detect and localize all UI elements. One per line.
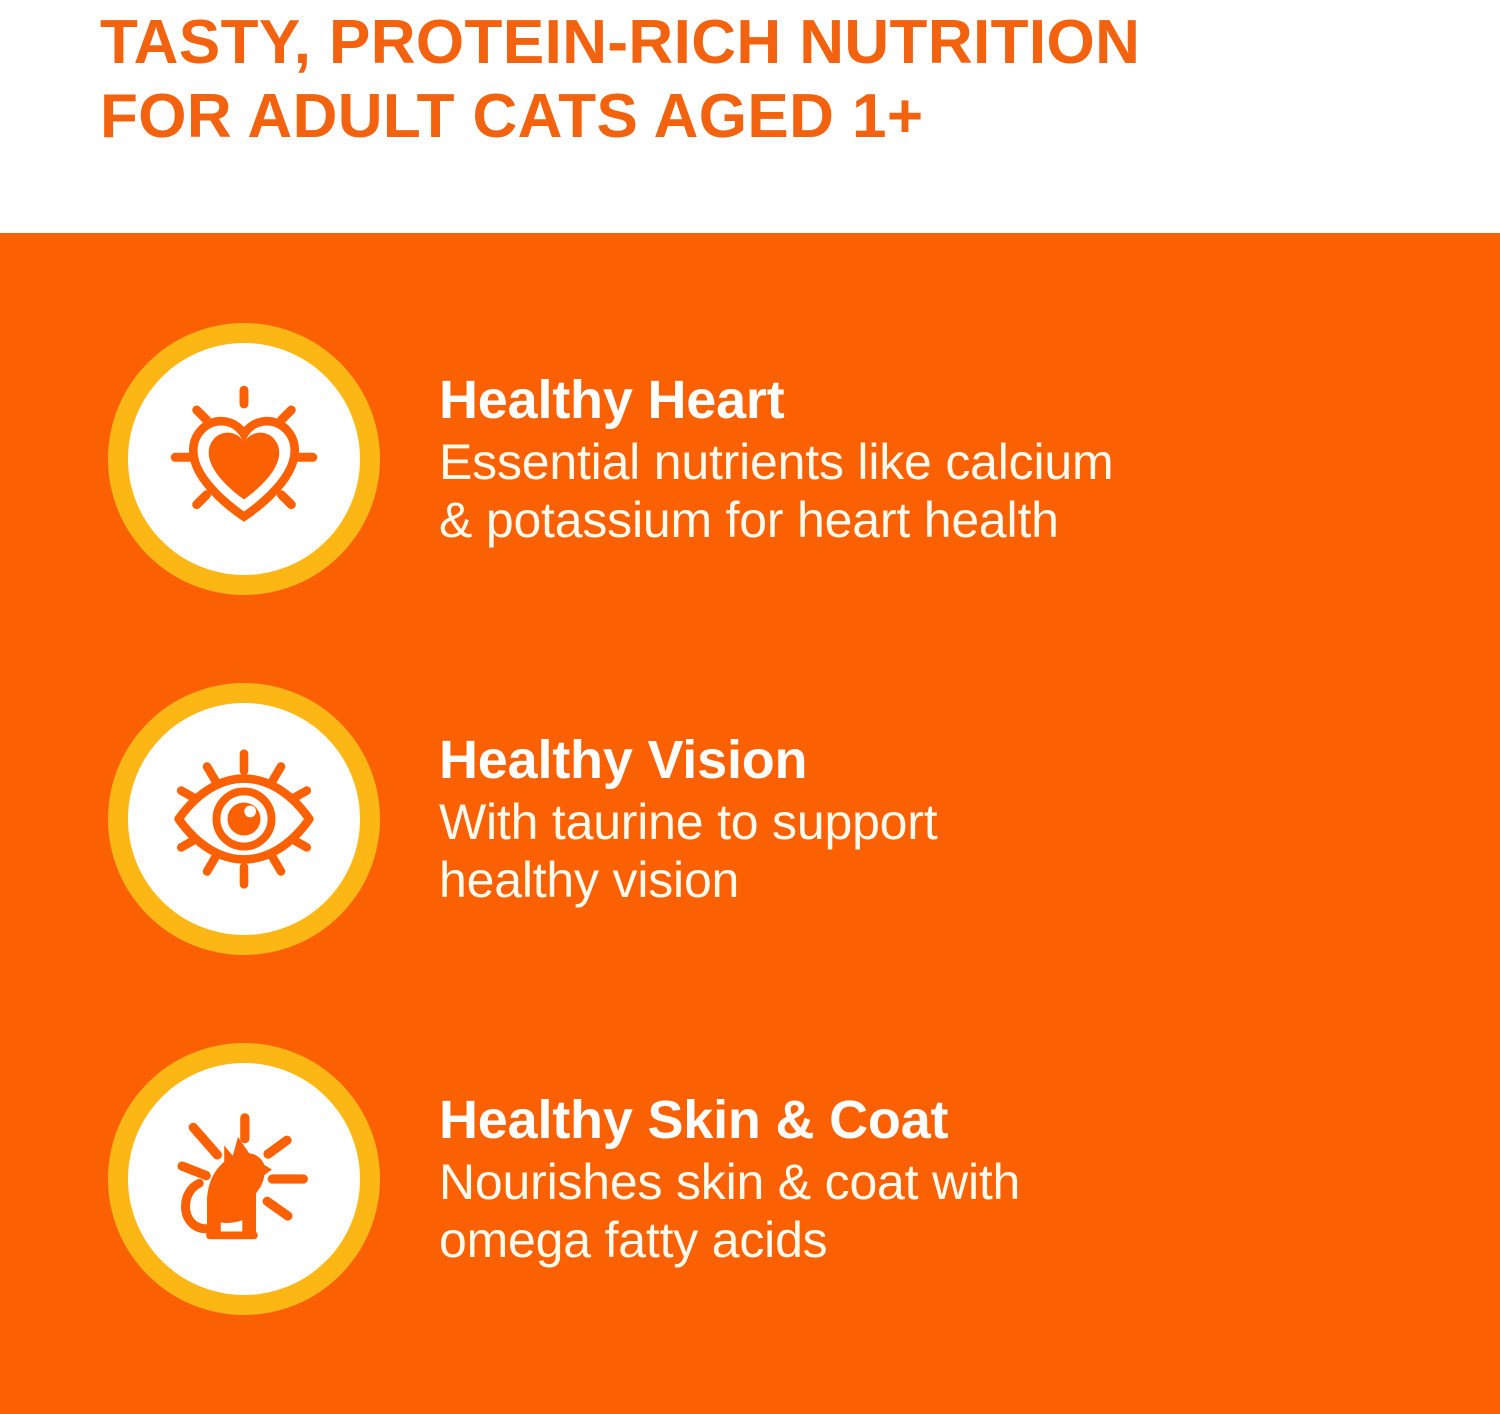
benefit-title: Healthy Skin & Coat — [439, 1089, 1340, 1151]
page-title: TASTY, PROTEIN-RICH NUTRITION FOR ADULT … — [100, 6, 1440, 154]
badge-inner-circle — [128, 703, 360, 935]
badge-inner-circle — [128, 1063, 360, 1295]
benefit-badge-cat — [108, 1043, 380, 1315]
benefit-title: Healthy Heart — [439, 369, 1340, 431]
header-banner: TASTY, PROTEIN-RICH NUTRITION FOR ADULT … — [0, 0, 1500, 233]
benefit-badge-heart — [108, 323, 380, 595]
benefit-description: With taurine to support healthy vision — [439, 793, 1340, 909]
benefit-row: Healthy Vision With taurine to support h… — [0, 683, 1500, 955]
infographic-page: TASTY, PROTEIN-RICH NUTRITION FOR ADULT … — [0, 0, 1500, 1414]
benefit-badge-eye — [108, 683, 380, 955]
benefit-text-block: Healthy Heart Essential nutrients like c… — [439, 369, 1500, 549]
benefit-row: Healthy Heart Essential nutrients like c… — [0, 323, 1500, 595]
radiant-eye-icon — [158, 733, 330, 905]
radiant-cat-icon — [158, 1093, 330, 1265]
radiant-heart-icon — [158, 373, 330, 545]
benefits-panel: Healthy Heart Essential nutrients like c… — [0, 233, 1500, 1414]
benefit-text-block: Healthy Vision With taurine to support h… — [439, 729, 1500, 909]
benefit-row: Healthy Skin & Coat Nourishes skin & coa… — [0, 1043, 1500, 1315]
benefit-text-block: Healthy Skin & Coat Nourishes skin & coa… — [439, 1089, 1500, 1269]
benefit-description: Nourishes skin & coat with omega fatty a… — [439, 1153, 1340, 1269]
benefit-description: Essential nutrients like calcium & potas… — [439, 433, 1340, 549]
benefit-title: Healthy Vision — [439, 729, 1340, 791]
badge-inner-circle — [128, 343, 360, 575]
